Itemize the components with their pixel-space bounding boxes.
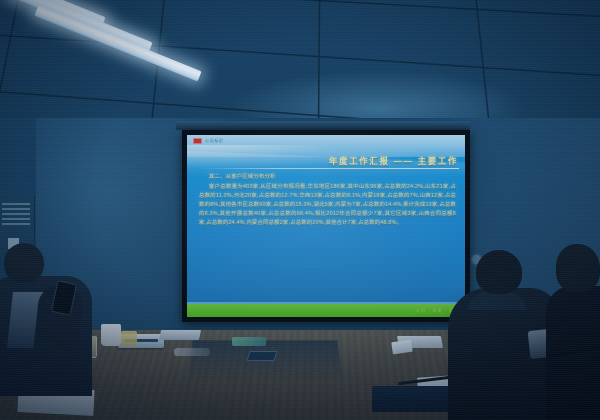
- notebook: [372, 386, 458, 412]
- slide-logo: 公司标识: [193, 138, 223, 144]
- slide-logo-text: 公司标识: [205, 138, 223, 144]
- conference-room-photo: 公司标识 年度工作汇报 —— 主要工作 其二、从客户区域分布分析 客户总数量为4…: [0, 0, 600, 420]
- slide-body-text: 其二、从客户区域分布分析 客户总数量为403家,从区域分布情况看,华东地区186…: [199, 173, 456, 229]
- presentation-slide: 公司标识 年度工作汇报 —— 主要工作 其二、从客户区域分布分析 客户总数量为4…: [187, 135, 465, 317]
- slide-body-heading: 其二、从客户区域分布分析: [199, 173, 456, 182]
- slide-footer-bar: 公司 · 年度 · 汇报: [187, 304, 465, 317]
- slide-title: 年度工作汇报 —— 主要工作: [329, 155, 458, 167]
- slide-body-paragraph: 客户总数量为403家,从区域分布情况看,华东地区186家,其中山东96家,占总数…: [199, 183, 456, 228]
- person-right-head: [556, 244, 600, 292]
- table-teal-items: [232, 337, 266, 346]
- person-left-head: [4, 243, 44, 283]
- projection-screen: 公司标识 年度工作汇报 —— 主要工作 其二、从客户区域分布分析 客户总数量为4…: [182, 130, 470, 322]
- table-small-items: [174, 348, 210, 356]
- company-mark-icon: [193, 138, 202, 144]
- yellow-cup: [121, 331, 137, 346]
- ceiling: [0, 0, 600, 128]
- projection-screen-casing: [176, 121, 470, 130]
- person-middle-head: [476, 250, 522, 294]
- papers-stack: [159, 330, 201, 340]
- slide-title-rule: [197, 168, 459, 169]
- white-paper-cup: [101, 324, 121, 346]
- table-shadow: [187, 340, 343, 383]
- person-middle-collar: [468, 292, 526, 310]
- table-phone: [246, 351, 277, 361]
